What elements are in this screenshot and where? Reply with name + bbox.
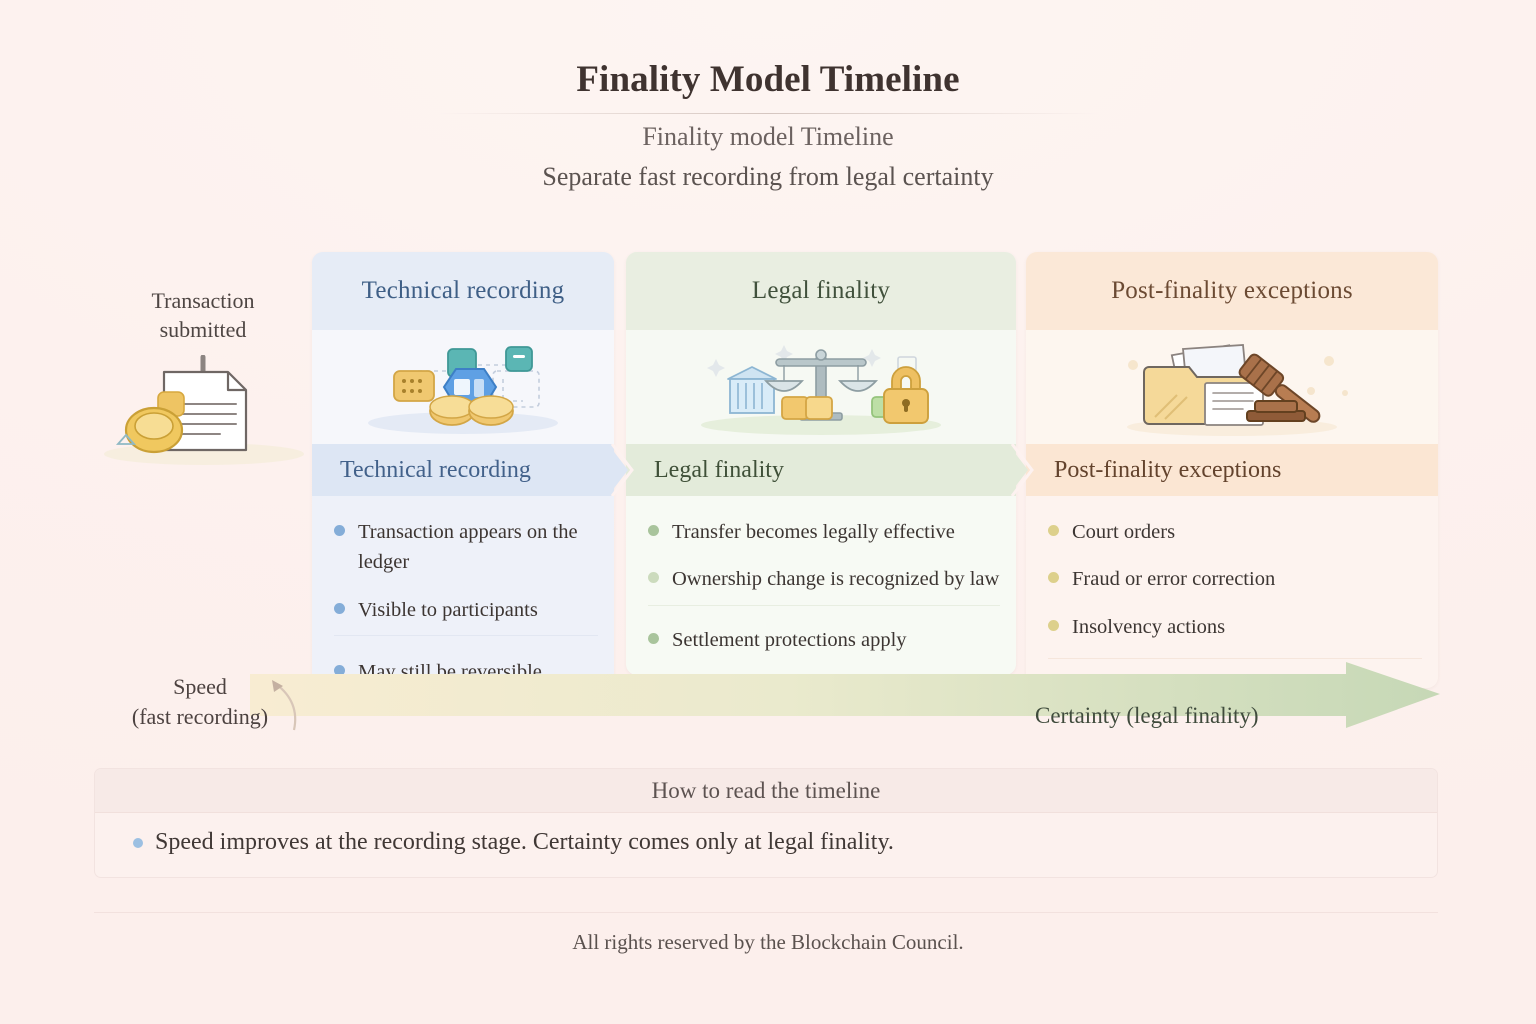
folder-and-gavel-icon <box>1097 335 1367 439</box>
stage2-art <box>626 330 1016 444</box>
infographic-page: Finality Model Timeline Finality model T… <box>0 0 1536 1024</box>
right-arrow-icon <box>250 660 1440 732</box>
bullet-dot-icon <box>648 633 659 644</box>
stage-card-post-finality-exceptions[interactable]: Post-finality exceptions <box>1026 252 1438 688</box>
bullet-dot-icon <box>334 603 345 614</box>
how-to-read-heading: How to read the timeline <box>95 769 1437 813</box>
list-item: Fraud or error correction <box>1048 557 1422 604</box>
blockchain-ledger-icon <box>348 335 578 439</box>
speed-label-line1: Speed <box>173 674 227 699</box>
list-item: Ownership change is recognized by law <box>648 557 1000 604</box>
stage1-header: Technical recording <box>312 252 614 330</box>
stage-card-technical-recording[interactable]: Technical recording <box>312 252 614 707</box>
title-divider <box>438 113 1098 114</box>
intro-label-line1: Transaction <box>151 288 254 313</box>
stage2-bullet-list: Transfer becomes legally effective Owner… <box>626 496 1016 675</box>
stage-card-legal-finality[interactable]: Legal finality <box>626 252 1016 675</box>
bullet-dot-icon <box>1048 525 1059 536</box>
bullet-text: Insolvency actions <box>1072 612 1225 642</box>
bullet-text: Court orders <box>1072 517 1175 547</box>
stage2-subheader: Legal finality <box>626 444 1016 496</box>
stage1-art <box>312 330 614 444</box>
how-to-read-panel: How to read the timeline Speed improves … <box>94 768 1438 878</box>
bullet-dot-icon <box>648 572 659 583</box>
list-item: Transaction appears on the ledger <box>334 510 598 588</box>
how-to-read-item: Speed improves at the recording stage. C… <box>95 813 1437 856</box>
list-item: Settlement protections apply <box>648 605 1000 665</box>
stage3-header: Post-finality exceptions <box>1026 252 1438 330</box>
stage3-subheader: Post-finality exceptions <box>1026 444 1438 496</box>
bullet-text: Fraud or error correction <box>1072 564 1275 594</box>
subtitle-secondary: Separate fast recording from legal certa… <box>0 162 1536 192</box>
list-item: Visible to participants <box>334 588 598 635</box>
speed-axis-label: Speed (fast recording) <box>100 672 300 731</box>
bullet-text: Visible to participants <box>358 595 538 625</box>
bullet-text: Ownership change is recognized by law <box>672 564 999 594</box>
speed-label-line2: (fast recording) <box>132 704 268 729</box>
bullet-text: Settlement protections apply <box>672 625 907 655</box>
list-item: Court orders <box>1048 510 1422 557</box>
certainty-axis-label: Certainty (legal finality) <box>1035 703 1259 729</box>
how-to-read-text: Speed improves at the recording stage. C… <box>155 829 894 856</box>
list-item: Transfer becomes legally effective <box>648 510 1000 557</box>
stage3-art <box>1026 330 1438 444</box>
stage2-header: Legal finality <box>626 252 1016 330</box>
bullet-text: Transfer becomes legally effective <box>672 517 955 547</box>
bullet-dot-icon <box>1048 620 1059 631</box>
intro-label-line2: submitted <box>160 317 247 342</box>
subtitle-primary: Finality model Timeline <box>0 122 1536 152</box>
footer-text: All rights reserved by the Blockchain Co… <box>0 930 1536 955</box>
intro-label: Transaction submitted <box>98 286 308 345</box>
bullet-dot-icon <box>133 838 143 848</box>
bullet-dot-icon <box>1048 572 1059 583</box>
stage1-subheader: Technical recording <box>312 444 614 496</box>
bullet-dot-icon <box>648 525 659 536</box>
document-and-coin-icon <box>96 358 312 468</box>
page-title: Finality Model Timeline <box>0 58 1536 101</box>
footer-divider <box>94 912 1438 913</box>
bullet-dot-icon <box>334 525 345 536</box>
scales-of-justice-icon <box>676 335 966 439</box>
bullet-text: Transaction appears on the ledger <box>358 517 598 578</box>
list-item: Insolvency actions <box>1048 605 1422 652</box>
